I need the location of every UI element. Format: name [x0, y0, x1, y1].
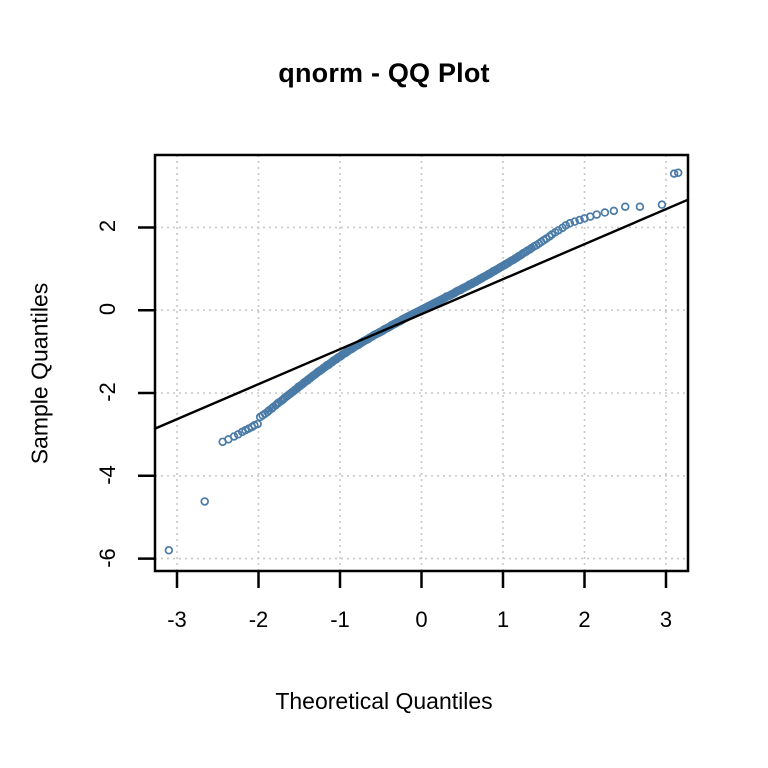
- data-point: [601, 209, 608, 216]
- data-point: [637, 203, 644, 210]
- y-tick-label: -4: [95, 453, 121, 497]
- data-point: [659, 201, 666, 208]
- data-point: [593, 211, 600, 218]
- x-tick-label: 1: [483, 607, 523, 633]
- axis-tick-marks: [138, 227, 666, 588]
- x-tick-label: -2: [239, 607, 279, 633]
- y-tick-label: -2: [95, 370, 121, 414]
- plot-frame: [155, 155, 688, 571]
- data-point: [610, 207, 617, 214]
- x-tick-label: -3: [157, 607, 197, 633]
- y-tick-label: 0: [95, 287, 121, 331]
- x-tick-label: -1: [320, 607, 360, 633]
- scatter-points: [165, 169, 681, 553]
- data-point: [165, 547, 172, 554]
- qq-plot-figure: qnorm - QQ Plot -3-2-10123 20-2-4-6 Theo…: [0, 0, 768, 768]
- x-tick-label: 2: [564, 607, 604, 633]
- x-tick-label: 0: [402, 607, 442, 633]
- x-axis-title: Theoretical Quantiles: [0, 688, 768, 715]
- y-tick-label: -6: [95, 536, 121, 580]
- x-tick-label: 3: [646, 607, 686, 633]
- y-axis-title: Sample Quantiles: [27, 224, 54, 524]
- y-tick-label: 2: [95, 204, 121, 248]
- gridlines: [155, 155, 688, 571]
- data-point: [622, 203, 629, 210]
- data-point: [201, 498, 208, 505]
